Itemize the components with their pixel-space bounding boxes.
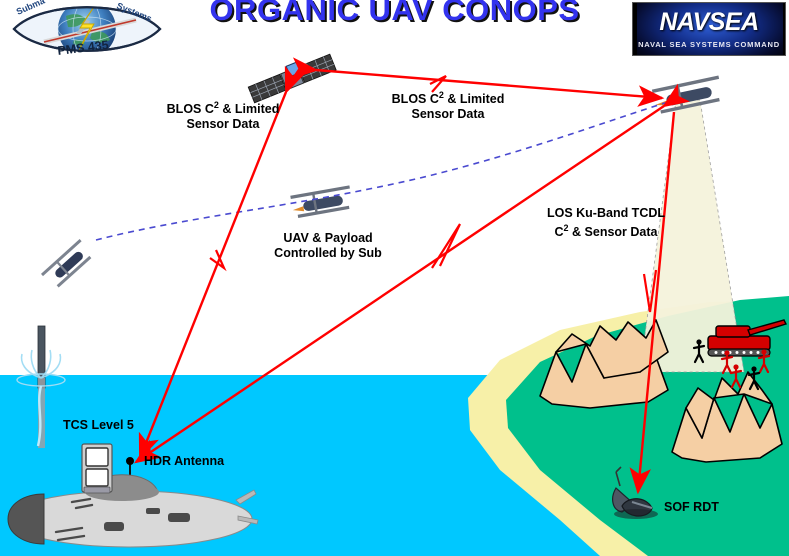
enemy-tank — [708, 320, 786, 356]
label-hdr-antenna: HDR Antenna — [144, 454, 224, 469]
label-los-ku-band: LOS Ku-Band TCDL C2 & Sensor Data — [522, 206, 690, 240]
navsea-subtitle: NAVAL SEA SYSTEMS COMMAND — [633, 40, 785, 49]
label-blos-left: BLOS C2 & Limited Sensor Data — [148, 98, 298, 132]
link-arrowhead-kink-4 — [644, 270, 656, 312]
link-arrowhead-kink-2 — [210, 250, 224, 268]
rock-cluster-left-top — [556, 320, 668, 378]
label-uav-payload: UAV & Payload Controlled by Sub — [258, 231, 398, 261]
conops-diagram: Subma Systems PMS 435 NAVSEA NAVAL SEA S… — [0, 0, 789, 556]
link-arrowhead-kink-3 — [432, 224, 460, 268]
high-altitude-uav — [652, 77, 723, 113]
label-tcs-level: TCS Level 5 — [63, 418, 134, 433]
launching-uav — [42, 240, 93, 289]
label-blos-right: BLOS C2 & Limited Sensor Data — [368, 88, 528, 122]
label-sof-rdt: SOF RDT — [664, 500, 719, 515]
sea-water — [0, 375, 789, 556]
page-title: ORGANIC UAV CONOPS — [0, 0, 789, 28]
mid-altitude-uav — [291, 187, 354, 217]
